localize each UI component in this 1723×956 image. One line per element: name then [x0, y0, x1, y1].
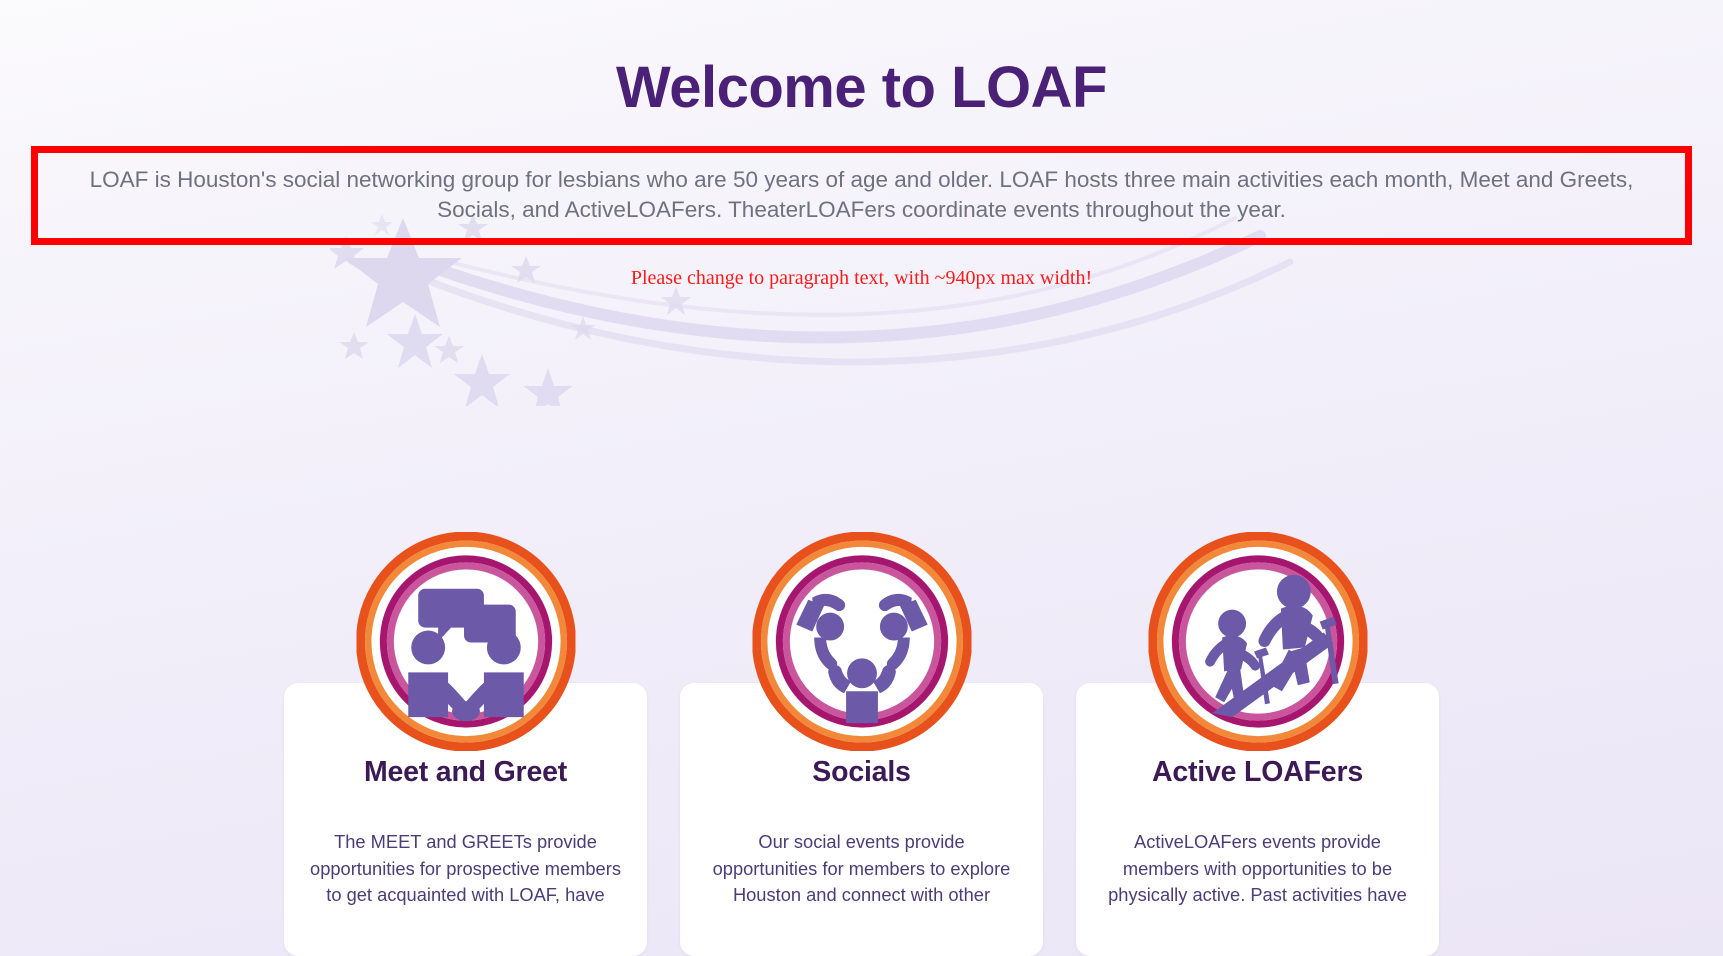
card-body: ActiveLOAFers events provide members wit…: [1102, 829, 1413, 908]
active-loafers-icon: [1148, 532, 1367, 751]
card-socials[interactable]: Socials Our social events provide opport…: [680, 683, 1043, 956]
intro-paragraph: LOAF is Houston's social networking grou…: [56, 165, 1667, 224]
card-active-loafers[interactable]: Active LOAFers ActiveLOAFers events prov…: [1076, 683, 1439, 956]
card-title: Socials: [706, 755, 1017, 789]
review-annotation: Please change to paragraph text, with ~9…: [0, 267, 1723, 290]
socials-icon: [752, 532, 971, 751]
card-meet-and-greet[interactable]: Meet and Greet The MEET and GREETs provi…: [284, 683, 647, 956]
card-title: Meet and Greet: [310, 755, 621, 789]
card-body: Our social events provide opportunities …: [706, 829, 1017, 908]
intro-callout-box: LOAF is Houston's social networking grou…: [31, 146, 1692, 245]
meet-and-greet-icon: [356, 532, 575, 751]
page-title: Welcome to LOAF: [0, 56, 1723, 121]
hero-section: Welcome to LOAF LOAF is Houston's social…: [0, 0, 1723, 290]
activity-cards: Meet and Greet The MEET and GREETs provi…: [0, 683, 1723, 956]
card-body: The MEET and GREETs provide opportunitie…: [310, 829, 621, 908]
card-title: Active LOAFers: [1102, 755, 1413, 789]
